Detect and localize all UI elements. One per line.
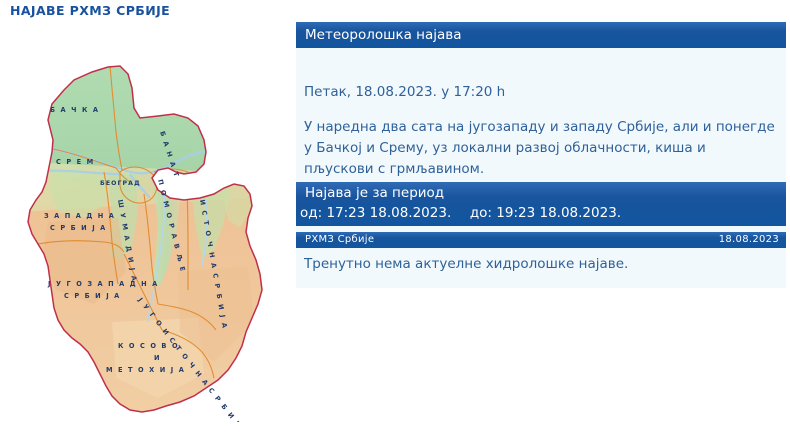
source-date: 18.08.2023 [719, 232, 779, 248]
map-svg: Б А Ч К А Б А Н А Т С Р Е М БЕОГРАД З А … [8, 22, 290, 422]
map-label-jugozapadna-srbija-line1: Ј У Г О З А П А Д Н А [47, 280, 159, 288]
meteo-datetime: Петак, 18.08.2023. у 17:20 h [304, 84, 505, 100]
period-title: Најава је за период [300, 184, 786, 203]
map-label-zapadna-srbija-line1: З А П А Д Н А [44, 212, 115, 220]
map-of-serbia: Б А Ч К А Б А Н А Т С Р Е М БЕОГРАД З А … [8, 22, 290, 422]
map-label-beograd: БЕОГРАД [100, 180, 141, 187]
meteo-body-text: У наредна два сата на југозападу и запад… [304, 117, 778, 180]
map-label-zapadna-srbija-line2: С Р Б И Ј А [50, 224, 107, 232]
map-label-backa: Б А Ч К А [50, 106, 100, 114]
source-name: РХМЗ Србије [305, 232, 374, 248]
hydro-status-text: Тренутно нема актуелне хидролошке најаве… [304, 256, 628, 272]
source-bar: РХМЗ Србије 18.08.2023 [296, 232, 786, 248]
period-from-value: 17:23 18.08.2023. [326, 205, 451, 221]
map-label-srem: С Р Е М [56, 158, 95, 166]
period-from-label: од: [300, 205, 322, 221]
page-title: НАЈАВЕ РХМЗ СРБИЈЕ [10, 3, 170, 18]
map-label-jugozapadna-srbija-line2: С Р Б И Ј А [64, 292, 121, 300]
period-block: Најава је за период од: 17:23 18.08.2023… [296, 182, 786, 226]
map-label-kosovo-line3: М Е Т О Х И Ј А [106, 366, 185, 374]
announcement-panel: Метеоролошка најава Петак, 18.08.2023. у… [296, 22, 786, 288]
meteo-header-bar: Метеоролошка најава [296, 22, 786, 48]
period-to-value: 19:23 18.08.2023. [496, 205, 621, 221]
map-label-kosovo-line1: К О С О В О [118, 342, 179, 350]
map-label-kosovo-line2: И [154, 354, 161, 362]
period-to-label: до: [470, 205, 492, 221]
period-range: од: 17:23 18.08.2023. до: 19:23 18.08.20… [300, 203, 786, 224]
